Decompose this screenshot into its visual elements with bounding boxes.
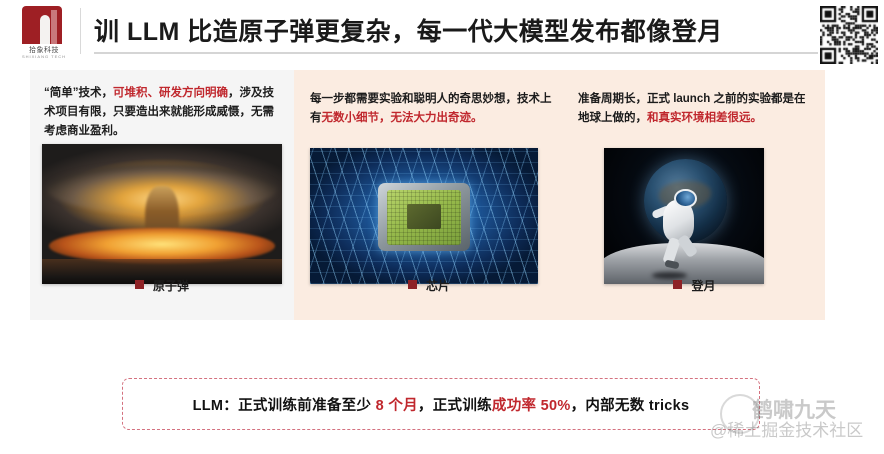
square-bullet-icon (408, 280, 417, 289)
title-underline-rule (94, 52, 818, 54)
panel-chip: 每一步都需要实验和聪明人的奇思妙想，技术上有无数小细节，无法大力出奇迹。 芯片 (294, 70, 564, 320)
panel-chip-text: 每一步都需要实验和聪明人的奇思妙想，技术上有无数小细节，无法大力出奇迹。 (310, 90, 554, 128)
panel-atomic-bomb-caption: 原子弹 (30, 277, 294, 294)
nuclear-explosion-image (42, 144, 282, 284)
chip-package-layer (378, 183, 469, 251)
astronaut-helmet-layer (674, 189, 696, 208)
square-bullet-icon (673, 280, 682, 289)
panel-moon-landing-text: 准备周期长，正式 launch 之前的实验都是在地球上做的，和真实环境相差很远。 (578, 90, 816, 128)
caption-label: 芯片 (426, 279, 450, 293)
page-title: 训 LLM 比造原子弹更复杂，每一代大模型发布都像登月 (94, 12, 723, 48)
panel-chip-caption: 芯片 (294, 277, 564, 294)
chip-die-layer (387, 190, 462, 244)
caption-label: 原子弹 (153, 279, 189, 293)
logo-company-en: SHIXIANG TECH (16, 54, 72, 59)
qr-code-icon[interactable] (820, 6, 878, 64)
summary-callout-box: LLM：正式训练前准备至少 8 个月，正式训练成功率 50%，内部无数 tric… (122, 378, 760, 430)
panel-atomic-bomb-text: “简单”技术，可堆积、研发方向明确，涉及技术项目有限，只要造出来就能形成威慑，无… (44, 84, 280, 141)
cpu-circuit-board-image (310, 148, 538, 284)
slide-header: 拾象科技 SHIXIANG TECH 训 LLM 比造原子弹更复杂，每一代大模型… (0, 0, 884, 64)
header-divider (80, 8, 81, 54)
caption-label: 登月 (691, 279, 715, 293)
chip-core-layer (407, 204, 441, 229)
logo-mark-icon (22, 6, 62, 44)
astronaut-moon-earth-image (604, 148, 764, 284)
watermark-primary-text: 鹤啸九天 (752, 394, 836, 424)
summary-callout-text: LLM：正式训练前准备至少 8 个月，正式训练成功率 50%，内部无数 tric… (193, 394, 690, 415)
panel-atomic-bomb: “简单”技术，可堆积、研发方向明确，涉及技术项目有限，只要造出来就能形成威慑，无… (30, 70, 294, 320)
panel-moon-landing: 准备周期长，正式 launch 之前的实验都是在地球上做的，和真实环境相差很远。… (564, 70, 825, 320)
panel-moon-landing-caption: 登月 (564, 277, 825, 294)
brand-logo: 拾象科技 SHIXIANG TECH (16, 6, 72, 60)
square-bullet-icon (135, 280, 144, 289)
